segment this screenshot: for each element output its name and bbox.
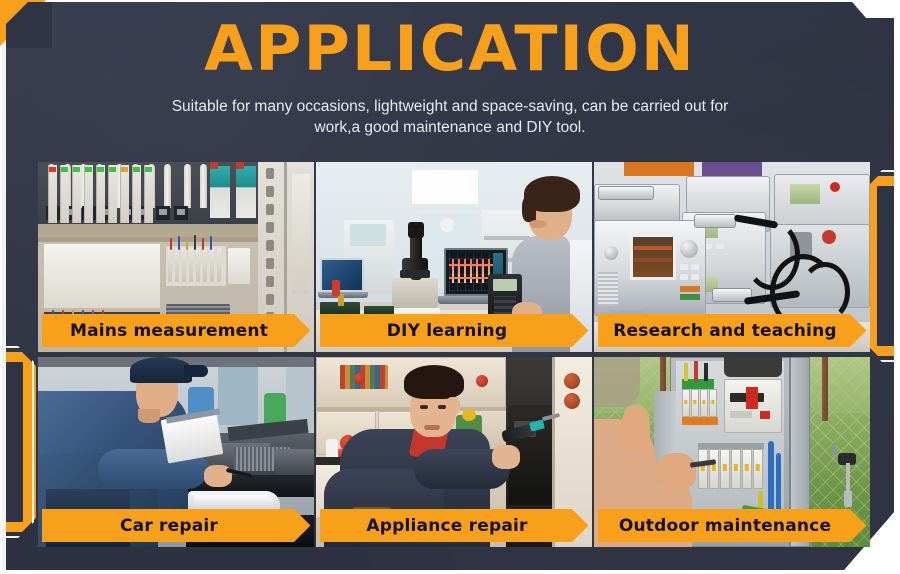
card-label: Outdoor maintenance	[619, 516, 845, 536]
application-card[interactable]: Car repair	[38, 357, 314, 547]
application-grid: Mains measurement	[38, 162, 866, 552]
card-label: Research and teaching	[613, 321, 851, 341]
application-banner: APPLICATION Suitable for many occasions,…	[0, 0, 900, 574]
card-label-ribbon: Appliance repair	[320, 509, 588, 542]
page-subtitle: Suitable for many occasions, lightweight…	[150, 96, 750, 139]
side-decoration-left	[6, 352, 36, 532]
page-title: APPLICATION	[0, 18, 900, 80]
card-label-ribbon: Car repair	[42, 509, 310, 542]
card-label: DIY learning	[387, 321, 521, 341]
application-card[interactable]: Mains measurement	[38, 162, 314, 352]
card-label-ribbon: Mains measurement	[42, 314, 310, 347]
card-label: Car repair	[120, 516, 232, 536]
application-card[interactable]: Outdoor maintenance	[594, 357, 870, 547]
card-label-ribbon: Research and teaching	[598, 314, 866, 347]
card-label-ribbon: Outdoor maintenance	[598, 509, 866, 542]
application-card[interactable]: Appliance repair	[316, 357, 592, 547]
application-card[interactable]: Research and teaching	[594, 162, 870, 352]
card-label: Mains measurement	[70, 321, 282, 341]
card-label-ribbon: DIY learning	[320, 314, 588, 347]
application-card[interactable]: DIY learning	[316, 162, 592, 352]
side-decoration-left-outline	[4, 346, 34, 538]
banner-header: APPLICATION Suitable for many occasions,…	[0, 18, 900, 139]
side-decoration-right-outline	[866, 170, 896, 362]
card-label: Appliance repair	[366, 516, 541, 536]
